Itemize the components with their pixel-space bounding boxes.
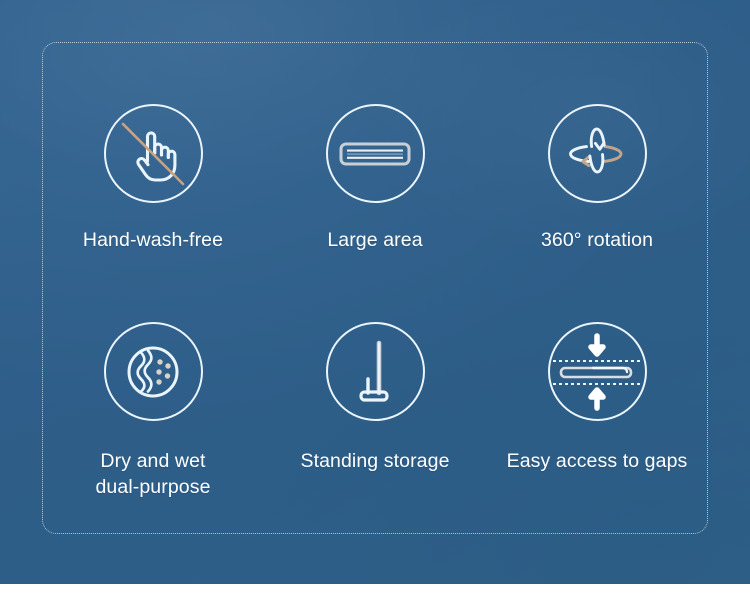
- standing-mop-icon: [326, 322, 425, 421]
- rotation-arrows-icon: [548, 104, 647, 203]
- feature-label: Standing storage: [300, 448, 449, 474]
- feature-banner: Hand-wash-free Large area: [0, 0, 750, 584]
- feature-label: Large area: [327, 227, 422, 253]
- no-hand-icon: [104, 104, 203, 203]
- feature-item-dry-and-wet: Dry and wet dual-purpose: [42, 288, 264, 534]
- feature-grid: Hand-wash-free Large area: [42, 42, 708, 534]
- feature-item-hand-wash-free: Hand-wash-free: [42, 42, 264, 288]
- feature-item-large-area: Large area: [264, 42, 486, 288]
- feature-item-360-rotation: 360° rotation: [486, 42, 708, 288]
- feature-label: Easy access to gaps: [507, 448, 688, 474]
- feature-item-standing-storage: Standing storage: [264, 288, 486, 534]
- feature-label: 360° rotation: [541, 227, 653, 253]
- feature-label: Dry and wet dual-purpose: [95, 448, 210, 500]
- flat-mop-head-icon: [326, 104, 425, 203]
- gap-arrows-icon: [548, 322, 647, 421]
- feature-label: Hand-wash-free: [83, 227, 223, 253]
- feature-item-easy-access-to-gaps: Easy access to gaps: [486, 288, 708, 534]
- wet-dry-pad-icon: [104, 322, 203, 421]
